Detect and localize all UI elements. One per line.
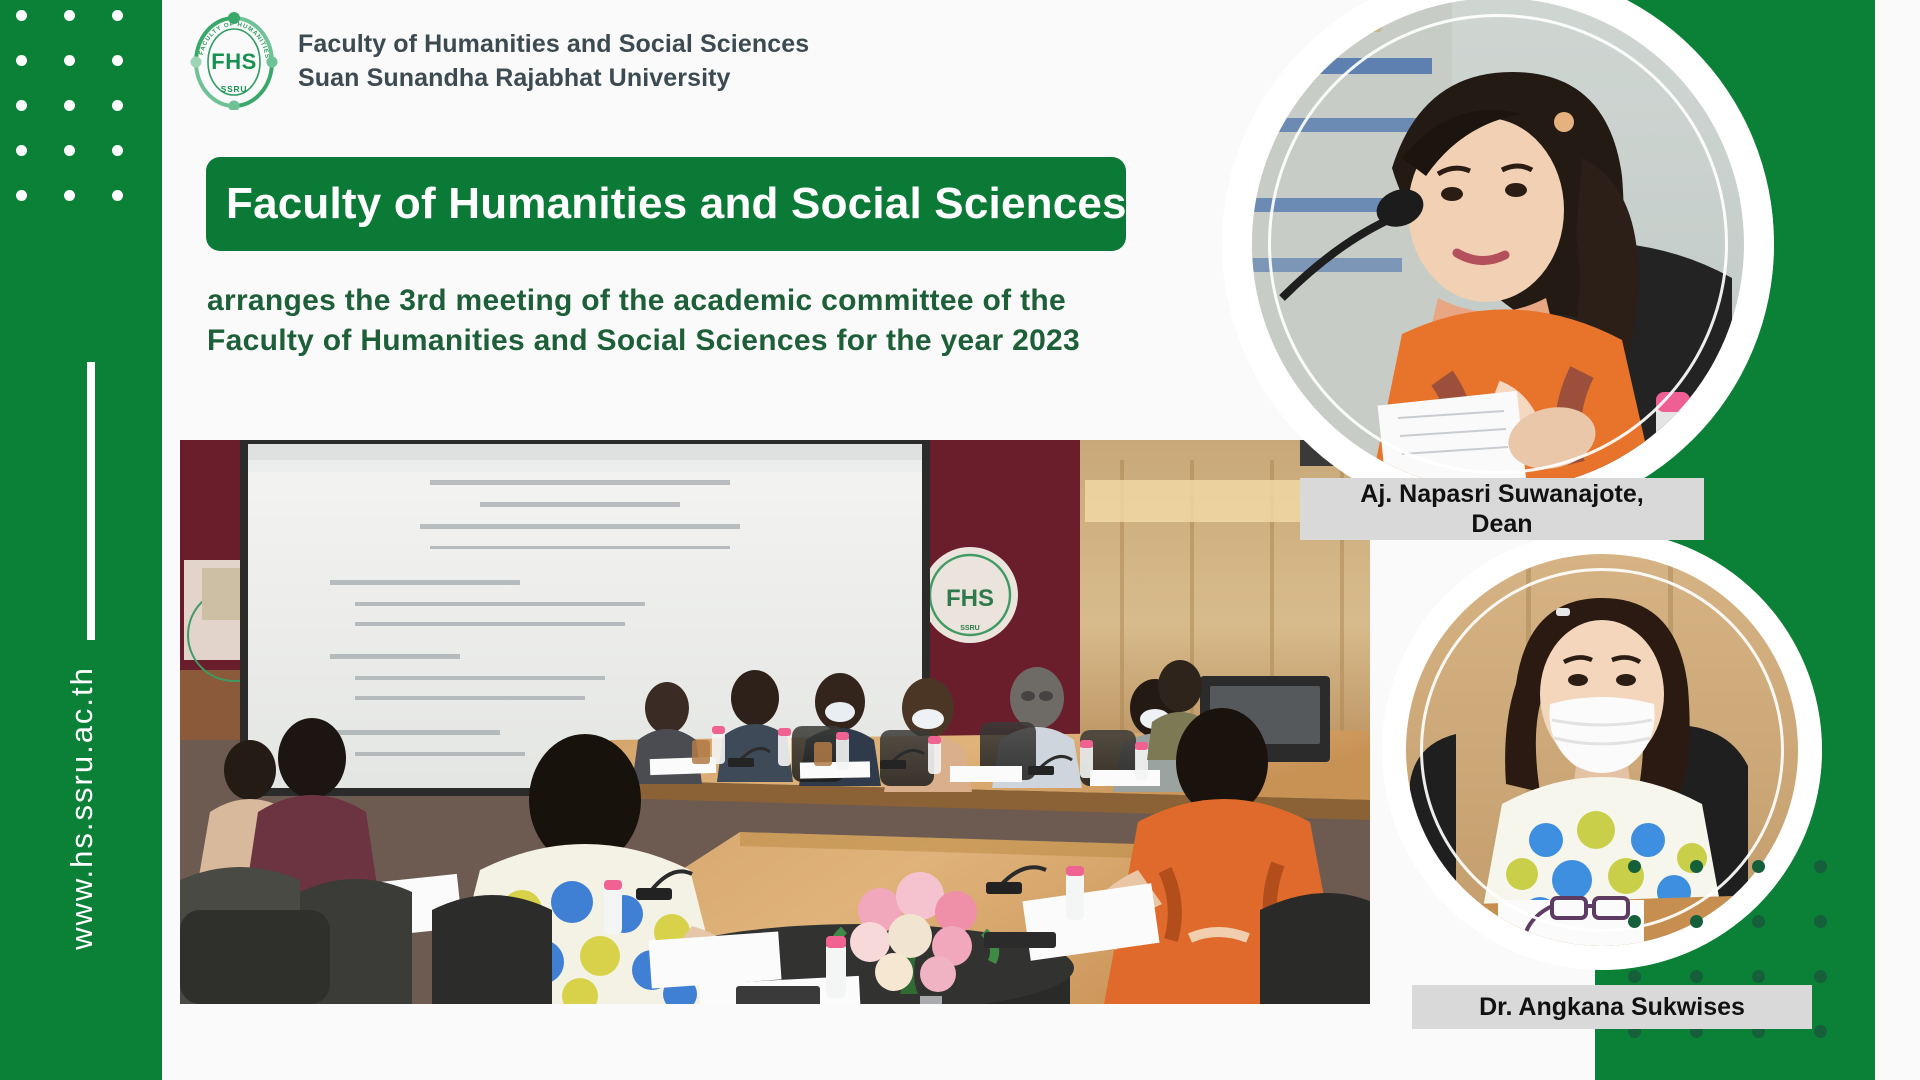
decorative-dot (112, 190, 123, 201)
portrait-dean-photo (1252, 0, 1744, 490)
title-banner-text: Faculty of Humanities and Social Science… (206, 179, 1127, 229)
decorative-dot (1752, 860, 1765, 873)
svg-text:SSRU: SSRU (221, 84, 247, 94)
decorative-dot (1814, 860, 1827, 873)
decorative-dot (64, 55, 75, 66)
title-banner: Faculty of Humanities and Social Science… (206, 157, 1126, 251)
decorative-dot (1690, 915, 1703, 928)
decorative-dot (64, 145, 75, 156)
dot-pattern-top-left (16, 10, 126, 205)
vertical-divider-bar (87, 362, 95, 640)
decorative-dot (1814, 970, 1827, 983)
decorative-dot (16, 190, 27, 201)
header-line-2: Suan Sunandha Rajabhat University (298, 61, 809, 96)
decorative-dot (112, 10, 123, 21)
svg-text:FHS: FHS (946, 585, 994, 612)
subtitle-line-2: Faculty of Humanities and Social Science… (207, 321, 1217, 361)
decorative-dot (1814, 1025, 1827, 1038)
header-line-1: Faculty of Humanities and Social Science… (298, 27, 809, 62)
decorative-dot (64, 100, 75, 111)
decorative-dot (1690, 970, 1703, 983)
decorative-dot (16, 100, 27, 111)
subtitle-line-1: arranges the 3rd meeting of the academic… (207, 281, 1217, 321)
decorative-dot (1690, 860, 1703, 873)
dot-pattern-bottom-right (1628, 860, 1898, 1060)
nameplate-dean: Aj. Napasri Suwanajote, Dean (1300, 478, 1704, 540)
nameplate-second-line-1: Dr. Angkana Sukwises (1479, 993, 1745, 1022)
decorative-dot (112, 145, 123, 156)
decorative-dot (1752, 970, 1765, 983)
decorative-dot (112, 55, 123, 66)
decorative-dot (16, 10, 27, 21)
decorative-dot (112, 100, 123, 111)
fhs-logo-icon: FACULTY OF HUMANITIES AND SOCIAL SCIENCE… (188, 12, 280, 110)
decorative-dot (1628, 970, 1641, 983)
nameplate-second: Dr. Angkana Sukwises (1412, 985, 1812, 1029)
meeting-photo: FHS SSRU (180, 440, 1370, 1004)
svg-text:FHS: FHS (211, 49, 257, 74)
subtitle-block: arranges the 3rd meeting of the academic… (207, 281, 1217, 361)
poster-canvas: www.hs.ssru.ac.th (0, 0, 1920, 1080)
decorative-dot (16, 55, 27, 66)
decorative-dot (64, 10, 75, 21)
svg-text:SSRU: SSRU (960, 625, 979, 632)
decorative-dot (1752, 915, 1765, 928)
decorative-dot (1814, 915, 1827, 928)
website-url-vertical[interactable]: www.hs.ssru.ac.th (64, 608, 100, 1008)
decorative-dot (64, 190, 75, 201)
decorative-dot (16, 145, 27, 156)
nameplate-dean-line-2: Dean (1360, 509, 1643, 540)
decorative-dot (1628, 915, 1641, 928)
nameplate-dean-line-1: Aj. Napasri Suwanajote, (1360, 479, 1643, 510)
header: FACULTY OF HUMANITIES AND SOCIAL SCIENCE… (188, 12, 809, 110)
decorative-dot (1628, 860, 1641, 873)
header-institution-text: Faculty of Humanities and Social Science… (298, 27, 809, 96)
left-green-rail: www.hs.ssru.ac.th (0, 0, 162, 1080)
